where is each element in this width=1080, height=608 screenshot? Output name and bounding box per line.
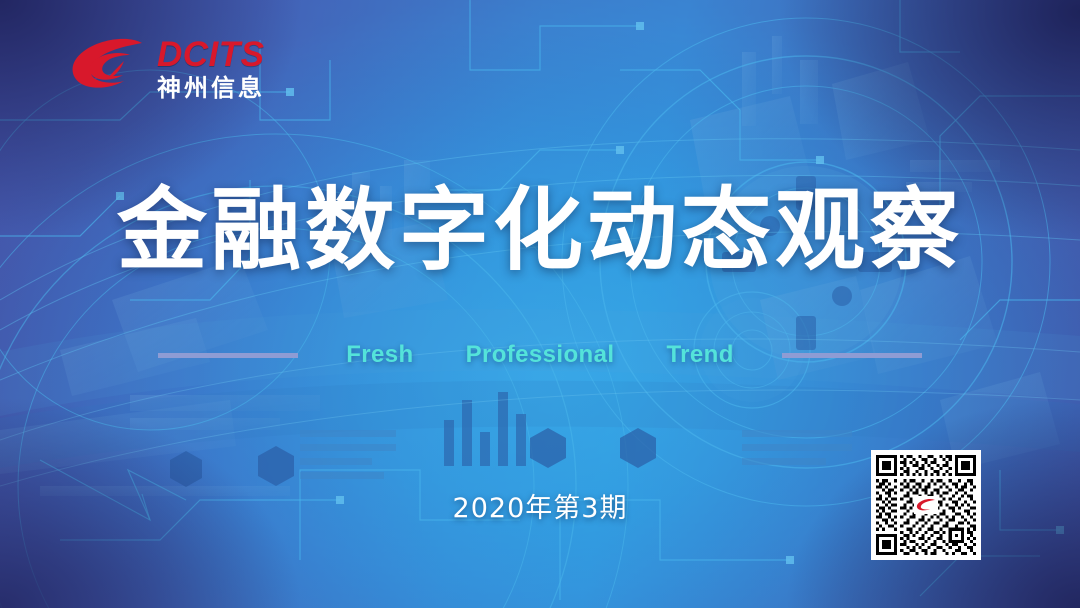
qr-code[interactable] <box>871 450 981 560</box>
tagline-words: Fresh Professional Trend <box>346 341 734 369</box>
tagline-row: Fresh Professional Trend <box>0 338 1080 372</box>
tagline-professional: Professional <box>466 341 615 369</box>
brand-name-en: DCITS <box>157 37 265 72</box>
cover-slide: DCITS 神州信息 金融数字化动态观察 Fresh Professional … <box>0 0 1080 608</box>
brand-name-cn: 神州信息 <box>157 76 265 100</box>
dcits-swoosh-icon <box>70 37 148 99</box>
qr-center-logo <box>914 496 938 514</box>
brand-wordmark: DCITS 神州信息 <box>157 37 265 100</box>
tagline-rule-left <box>158 353 298 358</box>
tagline-fresh: Fresh <box>346 341 413 369</box>
dcits-mini-icon <box>916 498 936 512</box>
tagline-trend: Trend <box>666 341 733 369</box>
cover-title: 金融数字化动态观察 <box>0 182 1080 279</box>
brand-logo: DCITS 神州信息 <box>70 32 285 104</box>
tagline-rule-right <box>782 353 922 358</box>
